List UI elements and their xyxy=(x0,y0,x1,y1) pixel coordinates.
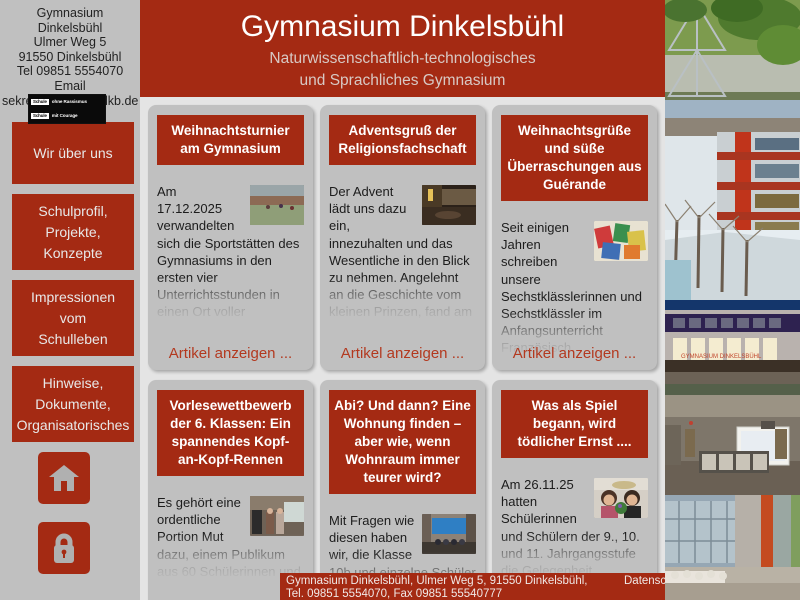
nav-label-line: Hinweise, xyxy=(17,373,130,394)
contact-line-2: Dinkelsbühl xyxy=(2,21,138,36)
contact-line-4: 91550 Dinkelsbühl xyxy=(2,50,138,65)
rail-photo-aula xyxy=(665,395,800,495)
nav-label-line: Schulprofil, xyxy=(38,201,107,222)
news-card-body: Der Advent lädt uns dazu ein, innezuhalt… xyxy=(329,183,476,323)
login-button[interactable] xyxy=(38,522,90,574)
rail-photo-eingang xyxy=(665,495,800,600)
news-card-thumbnail xyxy=(250,496,304,536)
nav-label-line: Projekte, xyxy=(38,222,107,243)
news-card-title: Vorlesewettbewerb der 6. Klassen: Ein sp… xyxy=(157,390,304,476)
news-card-body: Es gehört eine ordentliche Portion Mut d… xyxy=(157,494,304,580)
sidebar-icon-stack xyxy=(0,452,140,574)
news-card-title: Weihnachtsgrüße und süße Überraschungen … xyxy=(501,115,648,201)
sidebar-item-schulprofil[interactable]: Schulprofil, Projekte, Konzepte xyxy=(12,194,134,270)
photo-rail: GYMNASIUM DINKELSBÜHL xyxy=(665,0,800,600)
contact-line-1: Gymnasium xyxy=(2,6,138,21)
contact-phone: Tel 09851 5554070 xyxy=(2,64,138,79)
home-button[interactable] xyxy=(38,452,90,504)
news-card-thumbnail xyxy=(594,221,648,261)
news-card-body: Am 17.12.2025 verwandelten sich die Spor… xyxy=(157,183,304,323)
news-card-body: Am 26.11.25 hatten Schülerinnen und Schü… xyxy=(501,476,648,579)
page-subtitle-line-1: Naturwissenschaftlich-technologisches xyxy=(150,49,655,68)
badge-tag-1: Schule xyxy=(31,99,49,105)
nav-label-line: Organisatorisches xyxy=(17,415,130,436)
news-card[interactable]: Adventsgruß der Religionsfachschaft Der … xyxy=(320,105,485,370)
news-card-thumbnail xyxy=(250,185,304,225)
page-root: Gymnasium Dinkelsbühl Ulmer Weg 5 91550 … xyxy=(0,0,800,600)
lock-icon xyxy=(49,532,79,564)
news-card-title: Adventsgruß der Religionsfachschaft xyxy=(329,115,476,165)
contact-block: Gymnasium Dinkelsbühl Ulmer Weg 5 91550 … xyxy=(0,0,140,108)
nav-label-line: Wir über uns xyxy=(33,143,112,164)
nav-label-line: Impressionen xyxy=(31,287,115,308)
news-card[interactable]: Weihnachtsturnier am Gymnasium xyxy=(148,105,313,370)
schule-ohne-rassismus-badge[interactable]: Schule ohne Rassismus Schule mit Courage xyxy=(28,94,106,124)
badge-text-1: ohne Rassismus xyxy=(49,100,87,105)
svg-text:GYMNASIUM DINKELSBÜHL: GYMNASIUM DINKELSBÜHL xyxy=(681,353,762,360)
news-card-title: Was als Spiel begann, wird tödlicher Ern… xyxy=(501,390,648,458)
sidebar-item-wir-ueber-uns[interactable]: Wir über uns xyxy=(12,122,134,184)
page-subtitle-line-2: und Sprachliches Gymnasium xyxy=(150,71,655,90)
badge-text-2: mit Courage xyxy=(49,114,78,119)
sidebar: Gymnasium Dinkelsbühl Ulmer Weg 5 91550 … xyxy=(0,0,140,600)
footer-link-datenschutz[interactable]: Datenschutz xyxy=(624,575,665,588)
footer-address-line-2: 09851 5554070, Fax 09851 55540777 xyxy=(307,588,502,600)
nav-label-line: vom xyxy=(31,308,115,329)
site-footer: Gymnasium Dinkelsbühl, Ulmer Weg 5, 9155… xyxy=(280,573,665,600)
news-card-more-link[interactable]: Artikel anzeigen ... xyxy=(320,345,485,362)
rail-photo-schulgebaeude-abend: GYMNASIUM DINKELSBÜHL xyxy=(665,300,800,395)
news-card-thumbnail xyxy=(422,185,476,225)
badge-row-bottom: Schule mit Courage xyxy=(31,110,103,122)
sidebar-item-impressionen[interactable]: Impressionen vom Schulleben xyxy=(12,280,134,356)
news-card[interactable]: Weihnachtsgrüße und süße Überraschungen … xyxy=(492,105,657,370)
footer-address: Gymnasium Dinkelsbühl, Ulmer Weg 5, 9155… xyxy=(286,575,606,600)
contact-line-3: Ulmer Weg 5 xyxy=(2,35,138,50)
news-card[interactable]: Abi? Und dann? Eine Wohnung finden – abe… xyxy=(320,380,485,600)
news-card-grid: Weihnachtsturnier am Gymnasium xyxy=(140,97,665,600)
news-card-thumbnail xyxy=(422,514,476,554)
news-card-body: Seit einigen Jahren schreiben unsere Sec… xyxy=(501,219,648,357)
news-card-title: Weihnachtsturnier am Gymnasium xyxy=(157,115,304,165)
site-masthead: Gymnasium Dinkelsbühl Naturwissenschaftl… xyxy=(140,0,665,97)
home-icon xyxy=(48,463,80,493)
badge-tag-2: Schule xyxy=(31,113,49,119)
news-card-more-link[interactable]: Artikel anzeigen ... xyxy=(492,345,657,362)
sidebar-item-hinweise[interactable]: Hinweise, Dokumente, Organisatorisches xyxy=(12,366,134,442)
main-content: Gymnasium Dinkelsbühl Naturwissenschaftl… xyxy=(140,0,665,600)
news-card-more-link[interactable]: Artikel anzeigen ... xyxy=(148,345,313,362)
page-title: Gymnasium Dinkelsbühl xyxy=(150,8,655,46)
news-card[interactable]: Was als Spiel begann, wird tödlicher Ern… xyxy=(492,380,657,600)
contact-email-label: Email xyxy=(2,79,138,94)
news-card-thumbnail xyxy=(594,478,648,518)
nav-label-line: Konzepte xyxy=(38,243,107,264)
news-card-title: Abi? Und dann? Eine Wohnung finden – abe… xyxy=(329,390,476,494)
nav-label-line: Dokumente, xyxy=(17,394,130,415)
nav-label-line: Schulleben xyxy=(31,329,115,350)
sidebar-nav: Wir über uns Schulprofil, Projekte, Konz… xyxy=(0,122,140,442)
rail-photo-pausenhof xyxy=(665,0,800,100)
rail-photo-schulgebaeude-winter xyxy=(665,100,800,300)
news-card[interactable]: Vorlesewettbewerb der 6. Klassen: Ein sp… xyxy=(148,380,313,600)
badge-row-top: Schule ohne Rassismus xyxy=(31,96,103,108)
